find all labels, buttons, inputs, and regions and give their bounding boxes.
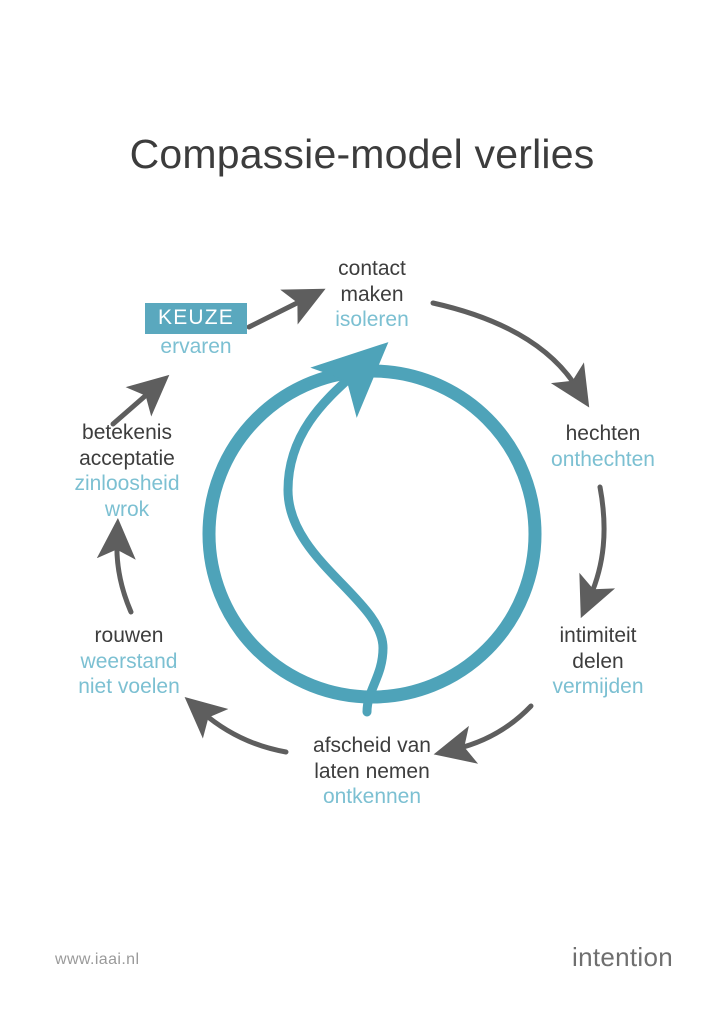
footer-website-url[interactable]: www.iaai.nl: [55, 951, 139, 969]
arrow-hechten-to-intimiteit: [590, 487, 604, 597]
arrow-betekenis-to-keuze: [113, 390, 152, 424]
node-betekenis-line-2: acceptatie: [18, 446, 236, 472]
node-hechten: hechten onthechten: [492, 421, 714, 472]
node-betekenis: betekenis acceptatie zinloosheid wrok: [18, 420, 236, 522]
node-rouwen-line-1: rouwen: [22, 623, 236, 649]
node-afscheid: afscheid van laten nemen ontkennen: [268, 733, 476, 810]
arrow-rouwen-to-betekenis: [117, 541, 131, 612]
node-intimiteit-line-2: delen: [492, 649, 704, 675]
node-rouwen-sub-2: niet voelen: [22, 674, 236, 700]
node-rouwen-sub-1: weerstand: [22, 649, 236, 675]
yin-yang-s-curve: [288, 372, 383, 712]
node-hechten-sub-1: onthechten: [492, 447, 714, 473]
node-afscheid-line-1: afscheid van: [268, 733, 476, 759]
node-afscheid-line-2: laten nemen: [268, 759, 476, 785]
node-hechten-line-1: hechten: [492, 421, 714, 447]
node-afscheid-sub-1: ontkennen: [268, 784, 476, 810]
keuze-badge: KEUZE: [145, 303, 247, 334]
node-intimiteit-sub-1: vermijden: [492, 674, 704, 700]
node-betekenis-sub-2: wrok: [18, 497, 236, 523]
node-betekenis-sub-1: zinloosheid: [18, 471, 236, 497]
node-contact-sub-1: isoleren: [272, 307, 472, 333]
teal-circle: [209, 371, 535, 697]
node-keuze: KEUZE ervaren: [106, 303, 286, 360]
poster-canvas: Compassie-model verlies: [0, 0, 724, 1024]
node-rouwen: rouwen weerstand niet voelen: [22, 623, 236, 700]
node-intimiteit: intimiteit delen vermijden: [492, 623, 704, 700]
footer-brand-logo: intention: [572, 942, 673, 973]
node-keuze-sub-1: ervaren: [106, 334, 286, 360]
node-contact: contact maken isoleren: [272, 256, 472, 333]
node-intimiteit-line-1: intimiteit: [492, 623, 704, 649]
node-contact-line-1: contact: [272, 256, 472, 282]
node-contact-line-2: maken: [272, 282, 472, 308]
node-betekenis-line-1: betekenis: [18, 420, 236, 446]
